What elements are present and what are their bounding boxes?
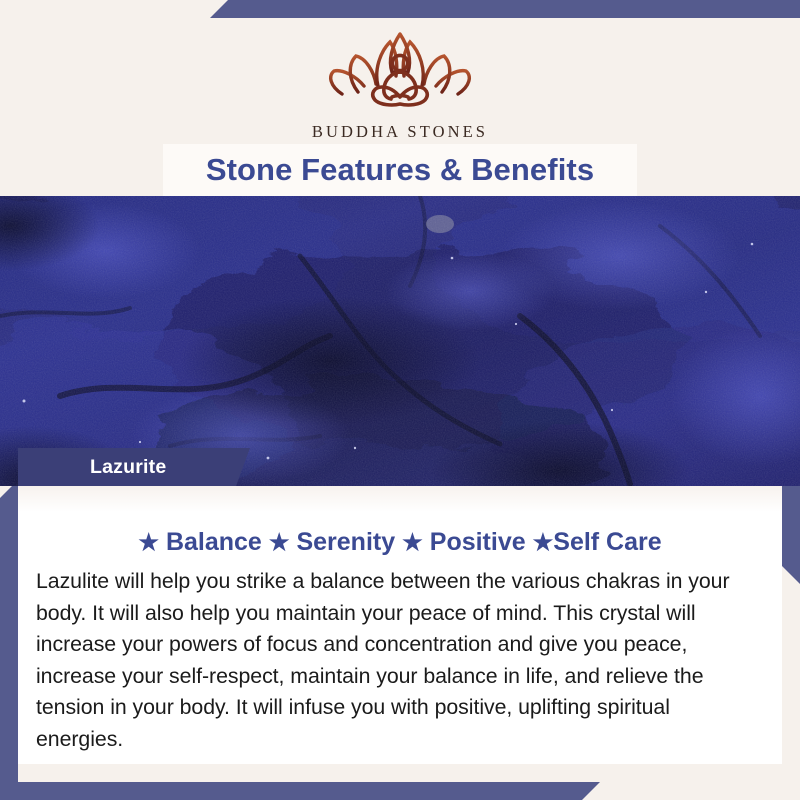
stone-name-tag: Lazurite: [18, 448, 250, 486]
lotus-meditation-icon: [312, 24, 488, 120]
frame-left-border: [0, 480, 18, 800]
header: BUDDHA STONES Stone Features & Benefits: [0, 18, 800, 196]
panel-top-fade: [18, 486, 782, 512]
keyword-balance: Balance: [166, 528, 262, 556]
infographic-card: BUDDHA STONES Stone Features & Benefits: [0, 0, 800, 800]
frame-bottom-border: [0, 782, 600, 800]
keyword-self-care: Self Care: [553, 528, 661, 556]
keyword-list: ★Balance★Serenity★Positive★Self Care: [18, 528, 782, 557]
content-panel: ★Balance★Serenity★Positive★Self Care Laz…: [18, 486, 782, 764]
frame-top-border: [210, 0, 800, 18]
page-title: Stone Features & Benefits: [206, 152, 594, 188]
title-banner: Stone Features & Benefits: [163, 144, 637, 196]
keyword-serenity: Serenity: [296, 528, 395, 556]
brand-logo: BUDDHA STONES: [0, 24, 800, 142]
star-icon: ★: [138, 529, 159, 555]
lazurite-stone-photo: [0, 196, 800, 486]
star-icon: ★: [269, 529, 290, 555]
brand-name: BUDDHA STONES: [0, 122, 800, 142]
stone-description: Lazulite will help you strike a balance …: [36, 566, 754, 755]
stone-name-label: Lazurite: [18, 456, 166, 479]
star-icon: ★: [533, 529, 554, 555]
star-icon: ★: [402, 529, 423, 555]
keyword-positive: Positive: [430, 528, 526, 556]
